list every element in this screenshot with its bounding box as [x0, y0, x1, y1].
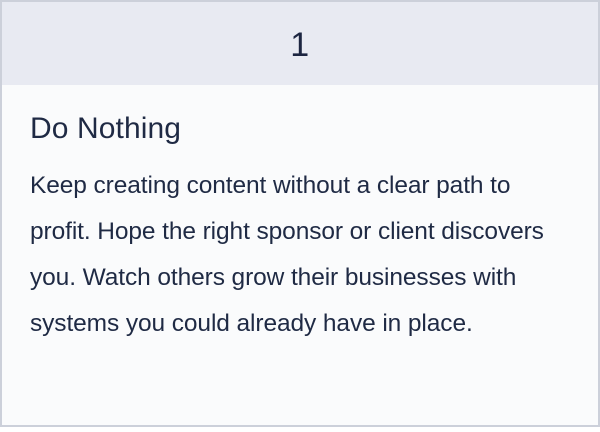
card-number: 1 [290, 28, 309, 62]
card-body: Do Nothing Keep creating content without… [2, 85, 598, 347]
card-description: Keep creating content without a clear pa… [30, 163, 570, 347]
numbered-option-card: 1 Do Nothing Keep creating content witho… [0, 0, 600, 427]
card-title: Do Nothing [30, 111, 570, 147]
card-header: 1 [2, 2, 598, 85]
